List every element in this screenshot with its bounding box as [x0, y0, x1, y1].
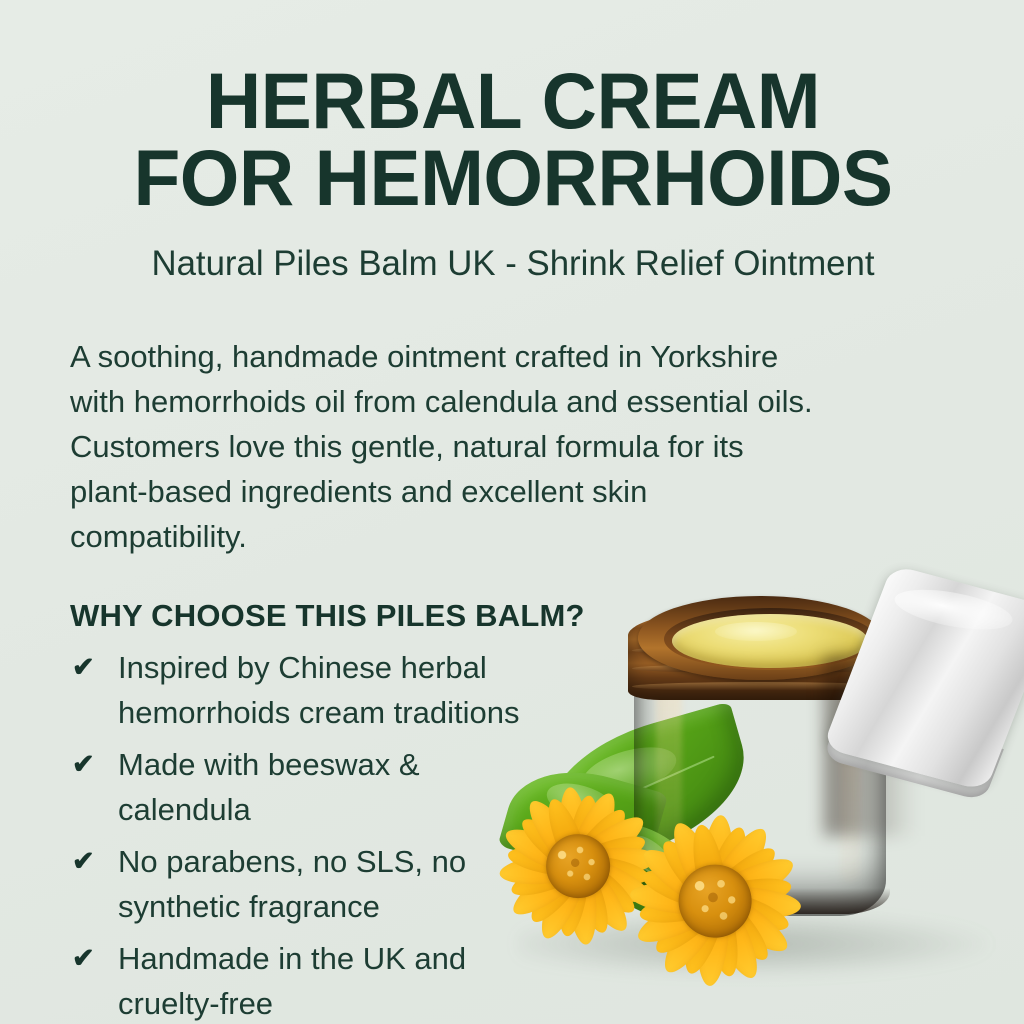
title-line-1: HERBAL CREAM — [81, 62, 944, 139]
subtitle: Natural Piles Balm UK - Shrink Relief Oi… — [77, 244, 949, 283]
intro-line: compatibility. — [70, 514, 930, 559]
calendula-flower — [618, 804, 812, 998]
page-title: HERBAL CREAM FOR HEMORRHOIDS — [68, 62, 958, 217]
list-item-line: Handmade in the UK and — [118, 936, 590, 981]
title-heading: HERBAL CREAM FOR HEMORRHOIDS — [81, 62, 944, 217]
check-icon: ✔ — [72, 645, 95, 690]
benefits-list: ✔ Inspired by Chinese herbal hemorrhoids… — [70, 645, 590, 1024]
list-item: ✔ Inspired by Chinese herbal hemorrhoids… — [70, 645, 590, 735]
list-item: ✔ No parabens, no SLS, no synthetic frag… — [70, 839, 590, 929]
list-item-line: Inspired by Chinese herbal — [118, 645, 590, 690]
list-item: ✔ Made with beeswax & calendula — [70, 742, 590, 832]
intro-paragraph: A soothing, handmade ointment crafted in… — [70, 334, 930, 559]
list-item-line: Made with beeswax & — [118, 742, 590, 787]
list-item-label: Handmade in the UK and cruelty-free — [118, 936, 590, 1024]
product-infographic: HERBAL CREAM FOR HEMORRHOIDS Natural Pil… — [0, 0, 1024, 1024]
intro-line: plant-based ingredients and excellent sk… — [70, 469, 930, 514]
title-line-2: FOR HEMORRHOIDS — [81, 139, 944, 216]
list-item-label: Inspired by Chinese herbal hemorrhoids c… — [118, 645, 590, 735]
list-item: ✔ Handmade in the UK and cruelty-free — [70, 936, 590, 1024]
flower-core-texture — [684, 870, 746, 932]
check-icon: ✔ — [72, 936, 95, 981]
check-icon: ✔ — [72, 742, 95, 787]
list-item-line: cruelty-free — [118, 981, 590, 1024]
intro-line: with hemorrhoids oil from calendula and … — [70, 379, 930, 424]
list-item-line: No parabens, no SLS, no — [118, 839, 590, 884]
list-item-line: synthetic fragrance — [118, 884, 590, 929]
intro-line: A soothing, handmade ointment crafted in… — [70, 334, 930, 379]
intro-line: Customers love this gentle, natural form… — [70, 424, 930, 469]
list-item-label: No parabens, no SLS, no synthetic fragra… — [118, 839, 590, 929]
check-icon: ✔ — [72, 839, 95, 884]
balm-sheen — [715, 622, 797, 641]
benefits-heading: WHY CHOOSE THIS PILES BALM? — [70, 598, 585, 634]
list-item-line: calendula — [118, 787, 590, 832]
list-item-label: Made with beeswax & calendula — [118, 742, 590, 832]
list-item-line: hemorrhoids cream traditions — [118, 690, 590, 735]
